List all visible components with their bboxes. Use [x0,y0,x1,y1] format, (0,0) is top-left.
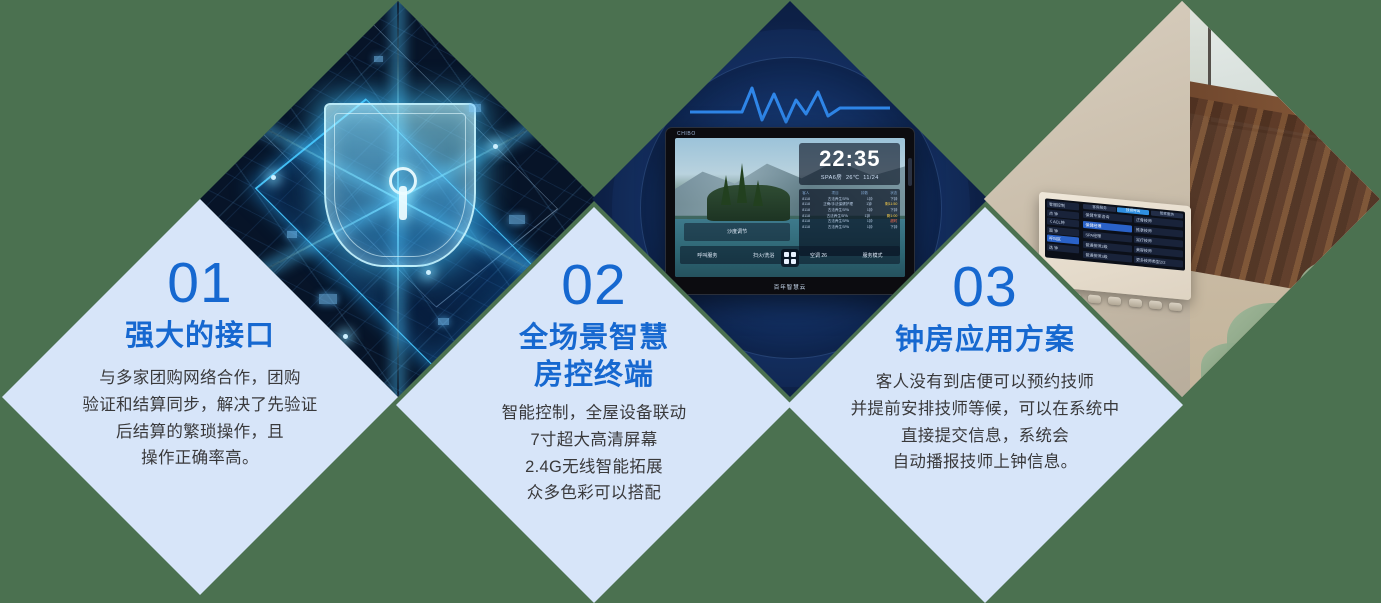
temperature-label: 26℃ [846,175,860,181]
tablet-screen[interactable]: 22:35 SPA6房 26℃ 11/24 客人 项目 钟数 状态 [675,138,905,277]
plant-shape [1201,343,1261,389]
card-title: 强大的接口 [125,318,275,355]
spark-dot [426,270,431,275]
card-title: 钟房应用方案 [895,322,1075,359]
plant-shape [1298,260,1368,318]
panel-option-grid[interactable]: 保健专家咨询 正骨技师 保健经理 推拿技师 SPA经理 足疗技师 普通技师2级 … [1084,211,1184,269]
cell-status: 下钟 [890,225,897,231]
card-number: 03 [952,259,1017,316]
spark-dot [493,144,498,149]
clock-widget: 22:35 SPA6房 26℃ 11/24 [799,143,900,185]
date-label: 11/24 [863,175,878,181]
clock-time: 22:35 [819,148,880,170]
volume-label: 沙度调节 [727,228,747,235]
card-body: 与多家团购网络合作，团购 验证和结算同步，解决了先验证 后结算的繁琐操作，且 操… [82,365,317,472]
card-number: 01 [167,255,232,312]
panel-button[interactable] [1149,300,1162,309]
media-control-bar[interactable]: 沙度调节 [684,223,790,241]
aircon-button[interactable]: 空调 26 [810,252,827,259]
service-mode-button[interactable]: 服务模式 [863,252,883,259]
wood-fence [1174,94,1380,305]
card-number: 02 [561,257,626,314]
island-wallpaper [707,185,790,221]
panel-button[interactable] [1089,294,1102,303]
home-grid-icon[interactable] [781,249,799,267]
table-row: 8118 古法养生SPA 1钟 下钟 [802,225,897,231]
tablet-device: CHIBO 22:35 SPA6房 26℃ 11/24 [665,127,915,295]
tree-shape [753,180,763,206]
menu-item[interactable]: 更多技师类型2/2 [1134,256,1183,268]
clock-meta: SPA6房 26℃ 11/24 [821,173,879,181]
heartbeat-icon [690,80,890,128]
cell-item: 古法养生SPA [828,225,849,231]
tablet-side-button[interactable] [908,158,912,186]
panel-side-menu[interactable]: 客服控制 点 钟 くACL钟 面 钟 呼叫区 选 钟 [1045,198,1081,261]
tree-shape [721,175,731,205]
pulse-wave-graphic [690,80,890,128]
spark-dot [343,334,348,339]
diamond-feature-banner: CHIBO 22:35 SPA6房 26℃ 11/24 [0,0,1381,603]
tree-shape [737,163,747,203]
panel-button[interactable] [1169,302,1182,311]
panel-button[interactable] [1109,296,1122,305]
panel-button[interactable] [1129,298,1142,307]
card-body: 客人没有到店便可以预约技师 并提前安排技师等候，可以在系统中 直接提交信息，系统… [851,369,1120,476]
tablet-footer-brand: 百年智慧云 [666,283,914,291]
panel-screen[interactable]: 客服控制 点 钟 くACL钟 面 钟 呼叫区 选 钟 客房服务 技师呼叫 管家服… [1045,198,1185,271]
cell-count: 1钟 [867,225,873,231]
card-body: 智能控制，全屋设备联动 7寸超大高清屏幕 2.4G无线智能拓展 众多色彩可以搭配 [502,400,687,507]
menu-item[interactable]: 普通技师3级 [1084,251,1133,263]
call-service-button[interactable]: 呼叫服务 [697,252,717,259]
cell-guest: 8118 [802,225,810,231]
room-label: SPA6房 [821,175,842,181]
card-title: 全场景智慧 房控终端 [519,320,669,394]
panel-main-area[interactable]: 客房服务 技师呼叫 管家服务 保健专家咨询 正骨技师 保健经理 推拿技师 SPA… [1082,202,1186,271]
tablet-brand-label: CHIBO [677,131,696,137]
plant-shape [1227,303,1317,373]
bath-button[interactable]: 扫火/洗浴 [753,252,774,259]
side-item[interactable]: 选 钟 [1047,243,1079,253]
